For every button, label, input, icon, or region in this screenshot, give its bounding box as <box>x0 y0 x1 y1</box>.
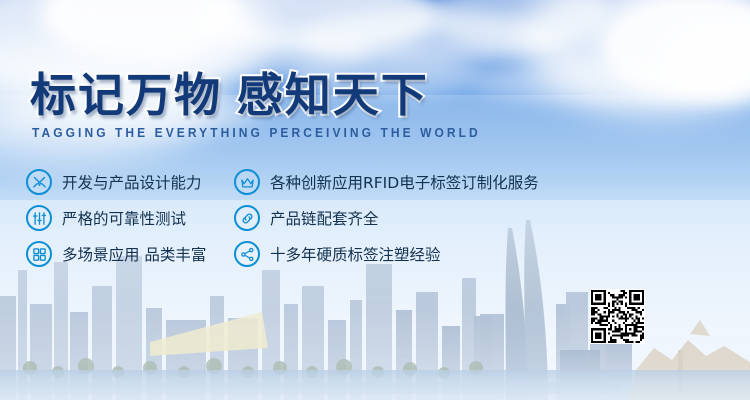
feature-label: 十多年硬质标签注塑经验 <box>270 243 441 265</box>
feature-label: 多场景应用 品类丰富 <box>62 243 206 265</box>
feature-label: 产品链配套齐全 <box>270 207 379 229</box>
feature-item-supply-chain: 产品链配套齐全 <box>234 204 539 232</box>
feature-item-development: 开发与产品设计能力 <box>26 168 206 196</box>
share-icon <box>234 241 260 267</box>
page-subtitle: TAGGING THE EVERYTHING PERCEIVING THE WO… <box>32 126 481 140</box>
feature-column-right: 各种创新应用RFID电子标签订制化服务 产品链配套齐全 十多年硬质标签注塑经验 <box>234 168 539 268</box>
waterfront <box>0 370 750 400</box>
feature-item-applications: 多场景应用 品类丰富 <box>26 240 206 268</box>
headline-block: 标记万物 感知天下 TAGGING THE EVERYTHING PERCEIV… <box>30 72 499 140</box>
sliders-icon <box>26 205 52 231</box>
page-title: 标记万物 感知天下 <box>30 72 499 118</box>
crown-icon <box>234 169 260 195</box>
feature-label: 开发与产品设计能力 <box>62 171 202 193</box>
qr-code[interactable] <box>590 289 645 344</box>
feature-item-rfid-custom-service: 各种创新应用RFID电子标签订制化服务 <box>234 168 539 196</box>
qr-code-canvas <box>591 290 644 343</box>
feature-label: 严格的可靠性测试 <box>62 207 186 229</box>
feature-column-left: 开发与产品设计能力 严格的可靠性测试 多场景应用 品类丰富 <box>26 168 206 268</box>
feature-item-reliability-test: 严格的可靠性测试 <box>26 204 206 232</box>
grid-icon <box>26 241 52 267</box>
promo-banner: 标记万物 感知天下 TAGGING THE EVERYTHING PERCEIV… <box>0 0 750 400</box>
tools-icon <box>26 169 52 195</box>
feature-label: 各种创新应用RFID电子标签订制化服务 <box>270 171 539 193</box>
feature-item-molding-experience: 十多年硬质标签注塑经验 <box>234 240 539 268</box>
link-icon <box>234 205 260 231</box>
